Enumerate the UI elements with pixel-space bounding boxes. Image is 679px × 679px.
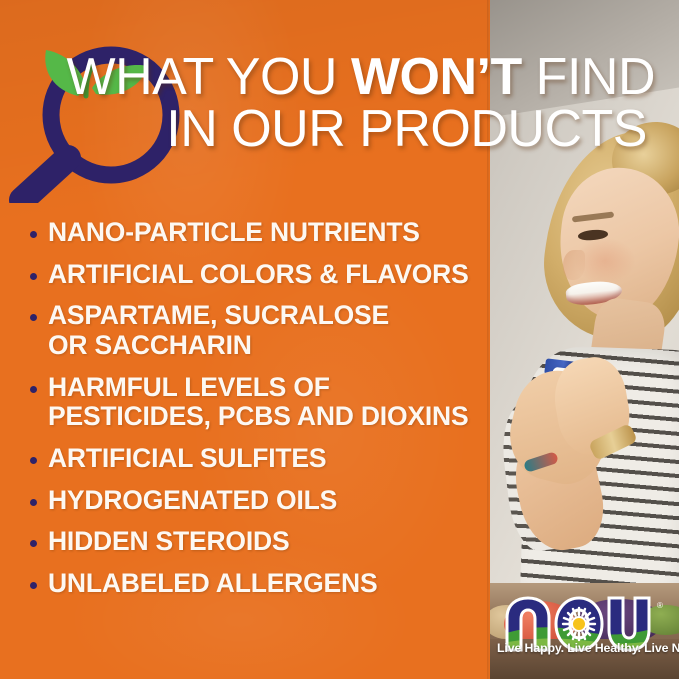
list-item-label: NANO-PARTICLE NUTRIENTS — [48, 218, 420, 248]
bullet-dot-icon — [30, 499, 37, 506]
sunburst-icon — [563, 608, 595, 640]
bullet-dot-icon — [30, 231, 37, 238]
list-item: NANO-PARTICLE NUTRIENTS — [26, 218, 496, 248]
list-item: HIDDEN STEROIDS — [26, 527, 496, 557]
list-item: UNLABELED ALLERGENS — [26, 569, 496, 599]
list-item-label: UNLABELED ALLERGENS — [48, 569, 377, 599]
list-item-label: HYDROGENATED OILS — [48, 486, 337, 516]
list-item: HARMFUL LEVELS OFPESTICIDES, PCBS AND DI… — [26, 373, 496, 432]
list-item: ASPARTAME, SUCRALOSEOR SACCHARIN — [26, 301, 496, 360]
headline-text-find: FIND — [522, 48, 655, 106]
list-item: ARTIFICIAL COLORS & FLAVORS — [26, 260, 496, 290]
registered-trademark-icon: ® — [657, 601, 663, 610]
bullet-dot-icon — [30, 582, 37, 589]
headline-text-wont: WON’T — [351, 48, 522, 106]
bullet-dot-icon — [30, 540, 37, 547]
bullet-dot-icon — [30, 273, 37, 280]
bullet-dot-icon — [30, 386, 37, 393]
headline-line-1: WHAT YOU WON’T FIND — [0, 52, 661, 102]
list-item-label: ARTIFICIAL COLORS & FLAVORS — [48, 260, 469, 290]
list-item: HYDROGENATED OILS — [26, 486, 496, 516]
list-item-label: HARMFUL LEVELS OFPESTICIDES, PCBS AND DI… — [48, 373, 468, 432]
brand-tagline: Live Happy. Live Healthy. Live NOW. — [497, 641, 663, 655]
bullet-dot-icon — [30, 314, 37, 321]
bullet-dot-icon — [30, 457, 37, 464]
list-item-label: ARTIFICIAL SULFITES — [48, 444, 326, 474]
list-item-label: ASPARTAME, SUCRALOSEOR SACCHARIN — [48, 301, 389, 360]
woman-nose — [563, 250, 585, 280]
headline-text-what-you: WHAT YOU — [67, 48, 351, 106]
list-item-label: HIDDEN STEROIDS — [48, 527, 289, 557]
marketing-poster: WHAT YOU WON’T FIND IN OUR PRODUCTS NANO… — [0, 0, 679, 679]
page-title: WHAT YOU WON’T FIND IN OUR PRODUCTS — [0, 52, 679, 155]
list-item: ARTIFICIAL SULFITES — [26, 444, 496, 474]
headline-line-2: IN OUR PRODUCTS — [0, 104, 661, 154]
excluded-ingredients-list: NANO-PARTICLE NUTRIENTS ARTIFICIAL COLOR… — [26, 218, 496, 611]
